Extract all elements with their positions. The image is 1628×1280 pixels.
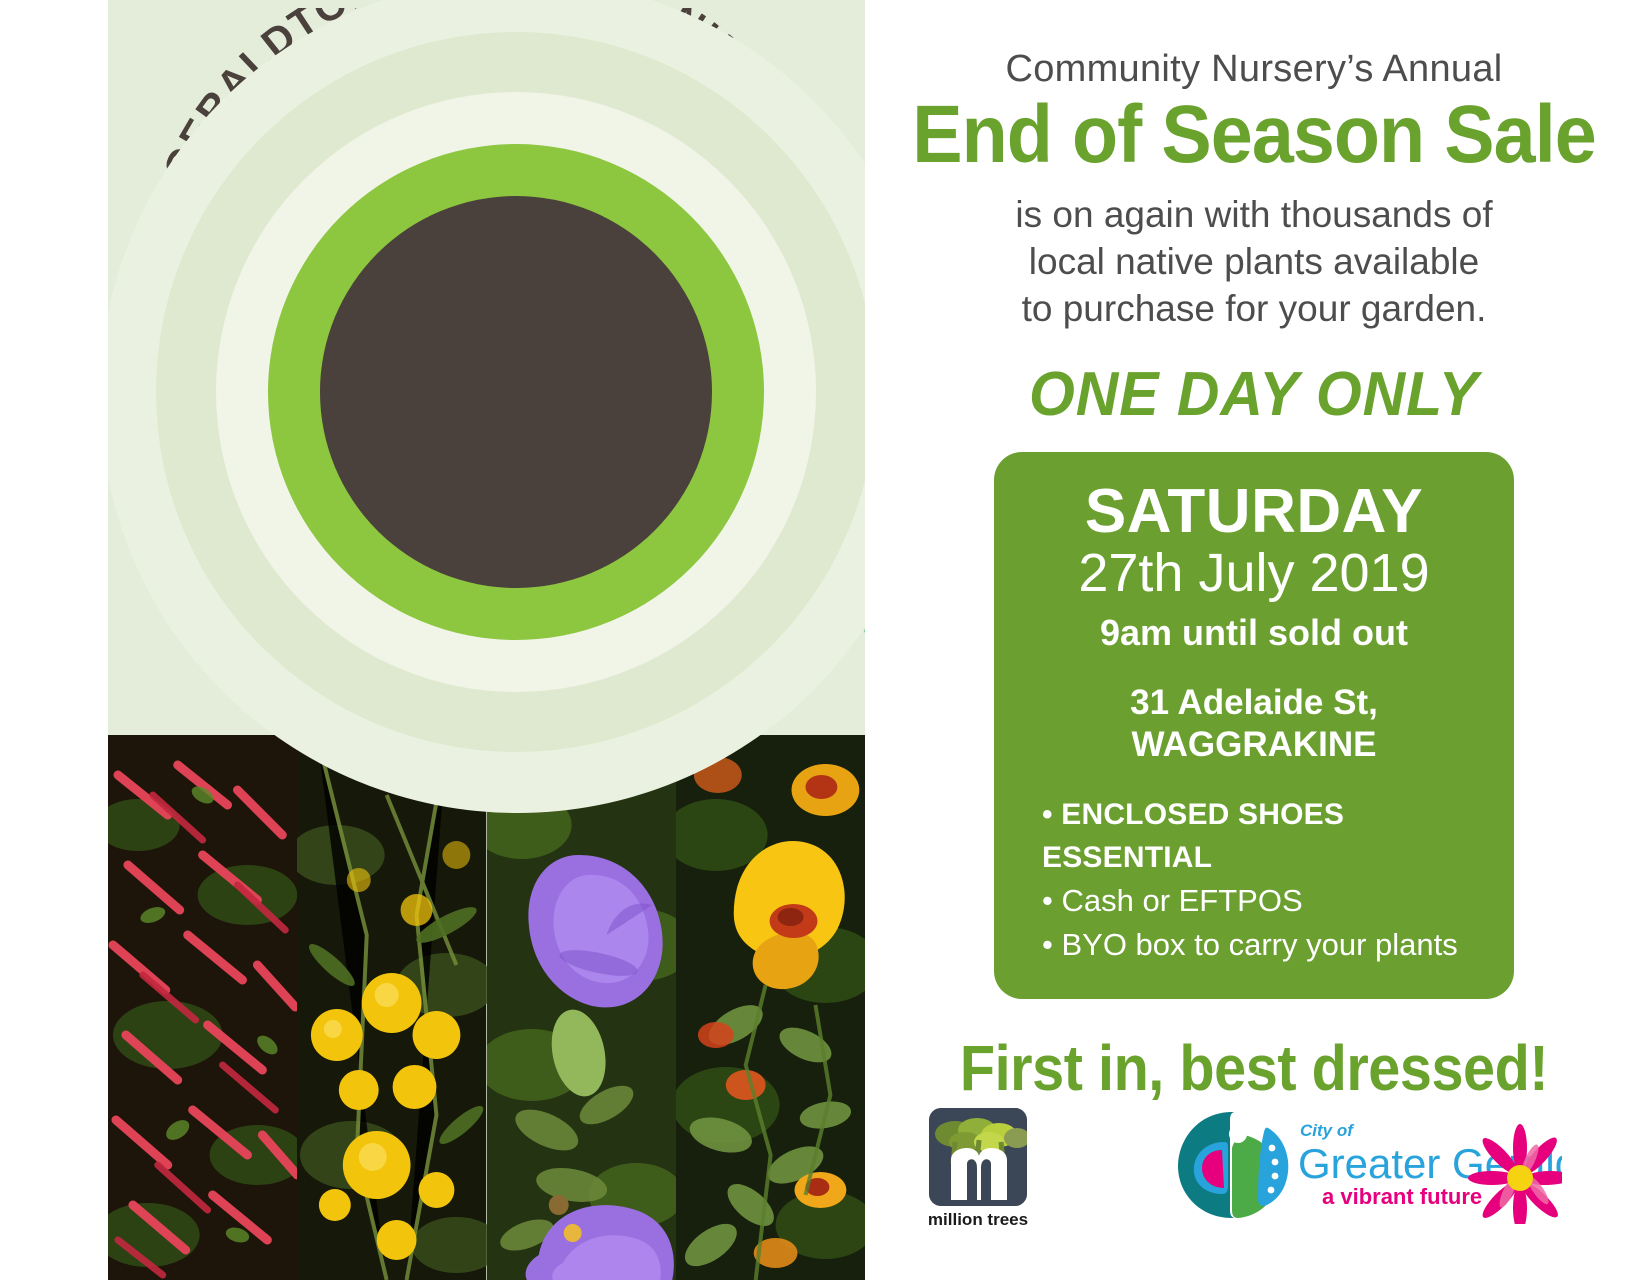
logo-line-plant: plant [352, 325, 679, 457]
subcopy-line: local native plants available [880, 238, 1628, 285]
gg-strapline-text: a vibrant future [1322, 1184, 1482, 1209]
purple-hibiscus-photo [487, 735, 676, 1280]
red-kangaroo-paw-photo [108, 735, 297, 1280]
plant-sale-logo-text: ANNUAL plant SALE [320, 196, 712, 588]
city-of-greater-geraldton-logo: City of Greater Geraldton a vibrant futu… [1172, 1106, 1562, 1224]
left-decorative-panel: GERALDTON COMMUNITY NURSERY [108, 0, 865, 1280]
kicker-text: Community Nursery’s Annual [880, 48, 1628, 91]
native-plant-photo-strip [108, 735, 865, 1280]
list-item: • BYO box to carry your plants [1042, 923, 1490, 967]
million-trees-badge-icon [929, 1108, 1027, 1206]
million-trees-label: million trees [918, 1210, 1038, 1230]
subcopy-line: is on again with thousands of [880, 191, 1628, 238]
promo-content-column: Community Nursery’s Annual End of Season… [880, 0, 1628, 1280]
arc-title-text: GERALDTON COMMUNITY NURSERY [154, 8, 838, 188]
subcopy-paragraph: is on again with thousands of local nati… [880, 191, 1628, 333]
event-time: 9am until sold out [1018, 612, 1490, 654]
yellow-wattle-photo [297, 735, 486, 1280]
million-trees-logo: million trees [918, 1108, 1038, 1230]
page-title: End of Season Sale [910, 93, 1598, 177]
list-item: • ENCLOSED SHOES ESSENTIAL [1042, 794, 1490, 879]
one-day-only-banner: ONE DAY ONLY [899, 359, 1610, 430]
sponsor-logos: million trees City of Greater Geraldton [880, 1092, 1628, 1232]
event-address: 31 Adelaide St, WAGGRAKINE [1018, 682, 1490, 766]
list-item: • Cash or EFTPOS [1042, 879, 1490, 923]
event-notes-list: • ENCLOSED SHOES ESSENTIAL • Cash or EFT… [1018, 794, 1490, 967]
yellow-pea-flower-photo [676, 735, 865, 1280]
event-details-box: SATURDAY 27th July 2019 9am until sold o… [994, 452, 1514, 1000]
gg-city-of-text: City of [1300, 1121, 1355, 1140]
address-line-2: WAGGRAKINE [1018, 724, 1490, 766]
event-date: 27th July 2019 [1018, 545, 1490, 602]
address-line-1: 31 Adelaide St, [1018, 682, 1490, 724]
event-day: SATURDAY [1018, 480, 1490, 543]
subcopy-line: to purchase for your garden. [880, 285, 1628, 332]
